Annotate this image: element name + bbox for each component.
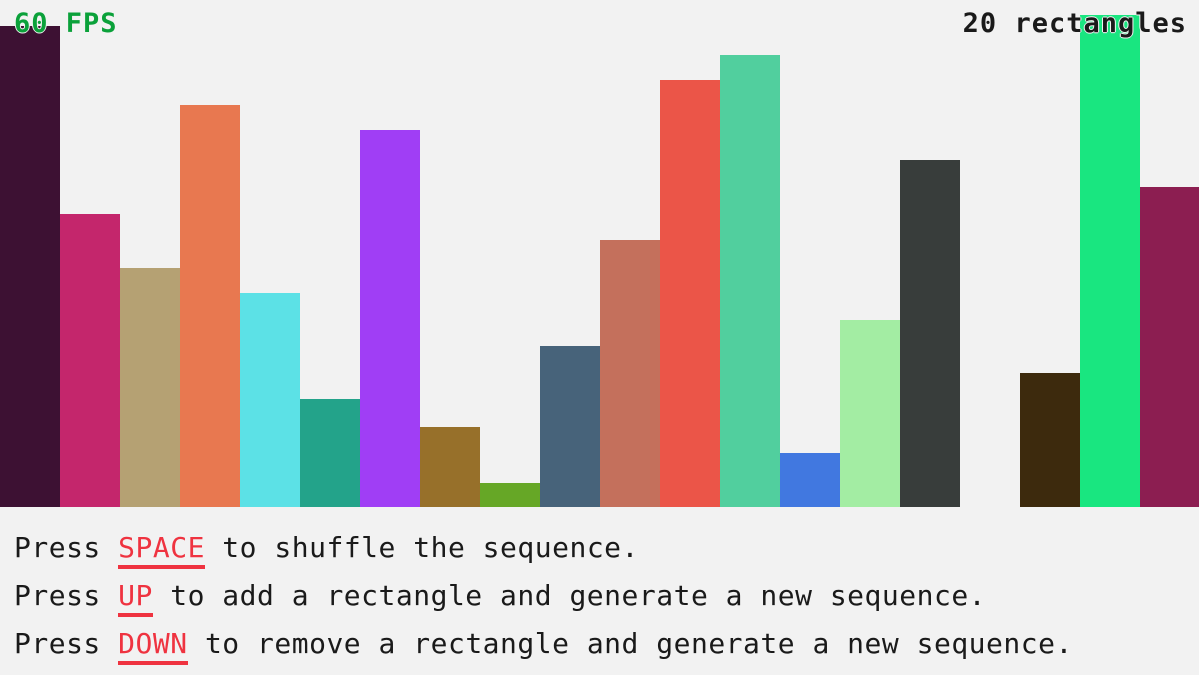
instruction-prefix: Press (14, 627, 118, 660)
chart-bar (300, 399, 360, 507)
chart-bar (1020, 373, 1080, 507)
chart-bar (600, 240, 660, 507)
chart-bar (0, 26, 60, 507)
chart-bar (480, 483, 540, 507)
chart-bar (180, 105, 240, 507)
chart-bar (720, 55, 780, 507)
chart-bar (840, 320, 900, 507)
instruction-prefix: Press (14, 531, 118, 564)
keyboard-key-up[interactable]: UP (118, 579, 153, 617)
chart-bar (540, 346, 600, 507)
instruction-suffix: to add a rectangle and generate a new se… (153, 579, 986, 612)
chart-bar (1080, 15, 1140, 507)
instruction-prefix: Press (14, 579, 118, 612)
app-root: 60 FPS 20 rectangles Press SPACE to shuf… (0, 0, 1199, 675)
instruction-suffix: to shuffle the sequence. (205, 531, 639, 564)
chart-bar (420, 427, 480, 507)
chart-bar (120, 268, 180, 507)
instruction-line: Press DOWN to remove a rectangle and gen… (14, 620, 1199, 668)
chart-bar (360, 130, 420, 507)
rectangle-count-label: 20 rectangles (963, 8, 1187, 40)
instruction-suffix: to remove a rectangle and generate a new… (188, 627, 1073, 660)
fps-counter: 60 FPS (14, 8, 118, 40)
chart-bar (780, 453, 840, 507)
instruction-line: Press SPACE to shuffle the sequence. (14, 524, 1199, 572)
chart-bar (660, 80, 720, 507)
chart-bar (1140, 187, 1199, 507)
rectangle-chart-canvas[interactable] (0, 0, 1199, 509)
keyboard-key-down[interactable]: DOWN (118, 627, 187, 665)
chart-bar (240, 293, 300, 507)
instructions-panel: Press SPACE to shuffle the sequence.Pres… (0, 512, 1199, 675)
instruction-line: Press UP to add a rectangle and generate… (14, 572, 1199, 620)
chart-bar (900, 160, 960, 507)
keyboard-key-space[interactable]: SPACE (118, 531, 205, 569)
chart-bar (60, 214, 120, 507)
